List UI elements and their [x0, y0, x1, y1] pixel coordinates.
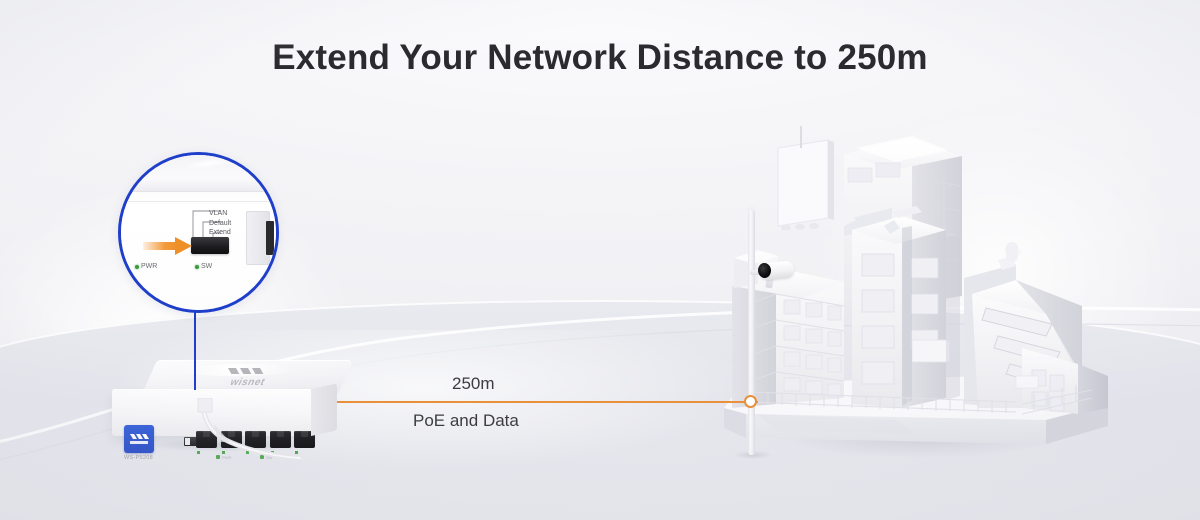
callout-led-sw-label: SW [201, 263, 212, 270]
brand-logo-top: wisnet [203, 366, 297, 388]
port-led-4 [271, 451, 274, 454]
port-led-1 [197, 451, 200, 454]
dip-switch-toggle[interactable] [262, 157, 274, 170]
poe-link-line [290, 401, 758, 403]
rj45-port-4[interactable] [270, 431, 291, 448]
poe-switch-device: wisnet WS-P5208 VLANDefaultExtend [112, 360, 338, 442]
city-block-model [716, 108, 1116, 468]
callout-port-opening [266, 221, 274, 255]
mounting-pole [748, 210, 755, 455]
dip-label-default: Default [209, 219, 231, 229]
port-led-3 [246, 451, 249, 454]
magnifier-callout: VLAN Default Extend PWR SW [118, 152, 279, 313]
switch-led-pwr-label: PWR [222, 455, 231, 460]
dip-label-vlan: VLAN [209, 209, 231, 219]
marketing-diagram-scene: Extend Your Network Distance to 250m [0, 0, 1200, 520]
brand-badge-icon [124, 425, 154, 453]
callout-led-pwr-label: PWR [141, 263, 157, 270]
rj45-port-2[interactable] [221, 431, 242, 448]
switch-front-panel: WS-P5208 VLANDefaultExtend PWR SW [112, 389, 312, 436]
callout-led-pwr: PWR [135, 263, 157, 270]
rj45-port-row [196, 431, 315, 448]
rj45-port-1[interactable] [196, 431, 217, 448]
callout-seam-line [118, 201, 279, 202]
ip-camera-icon [756, 262, 798, 286]
port-led-5 [295, 451, 298, 454]
switch-led-pwr [216, 455, 220, 459]
callout-dip-labels: VLAN Default Extend [209, 209, 231, 238]
arrow-head [175, 237, 192, 255]
callout-connector-line [194, 305, 196, 390]
led-dot-sw-icon [195, 265, 199, 269]
port-led-2 [222, 451, 225, 454]
callout-led-sw: SW [195, 263, 212, 270]
link-service-label: PoE and Data [413, 411, 519, 431]
switch-dip-toggle[interactable] [185, 438, 190, 445]
switch-model-label: WS-P5208 [124, 455, 153, 461]
arrow-tail [143, 242, 179, 250]
link-distance-label: 250m [452, 374, 495, 394]
svg-text:wisnet: wisnet [227, 377, 267, 387]
badge-chevrons-icon [129, 433, 149, 445]
switch-led-sw [260, 455, 264, 459]
pointer-arrow-icon [143, 237, 197, 254]
switch-led-sw-label: SW [266, 455, 272, 460]
callout-background: VLAN Default Extend PWR SW [121, 155, 276, 310]
led-dot-pwr-icon [135, 265, 139, 269]
link-endpoint-camera [744, 395, 757, 408]
rj45-port-3[interactable] [245, 431, 266, 448]
switch-side-face [311, 383, 337, 436]
page-title: Extend Your Network Distance to 250m [0, 38, 1200, 78]
